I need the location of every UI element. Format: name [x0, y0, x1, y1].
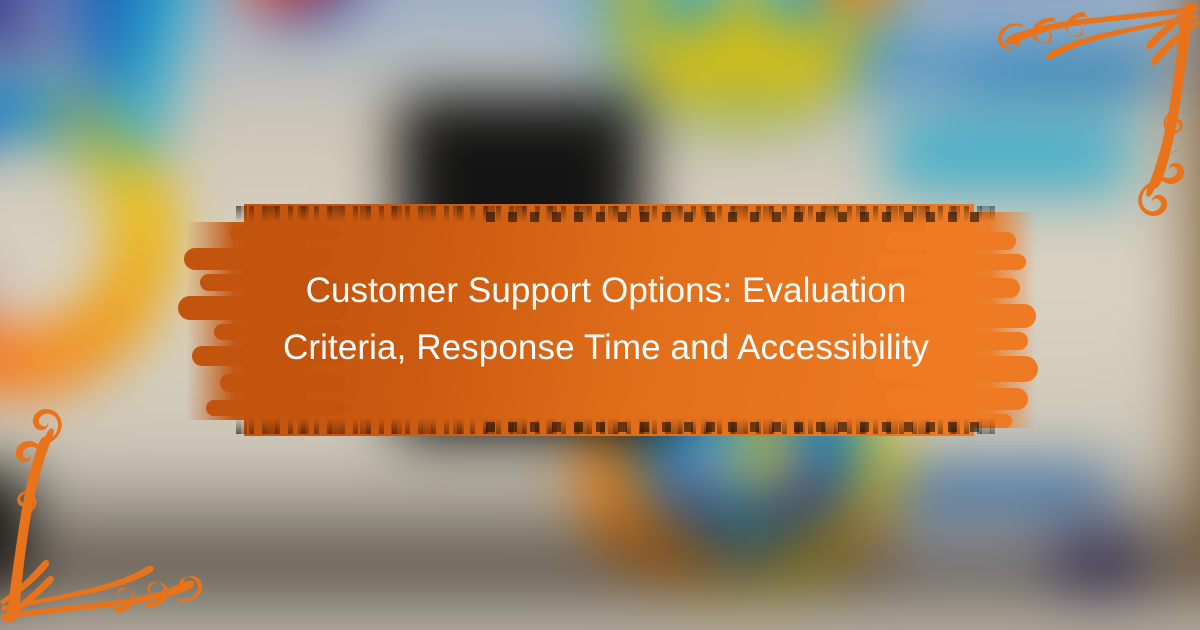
corner-flourish-top-right: [970, 0, 1200, 235]
banner-canvas: Customer Support Options: Evaluation Cri…: [0, 0, 1200, 630]
title-container: Customer Support Options: Evaluation Cri…: [186, 196, 1026, 444]
corner-flourish-icon: [0, 395, 230, 625]
corner-flourish-icon: [970, 0, 1200, 230]
page-title: Customer Support Options: Evaluation Cri…: [256, 263, 956, 376]
corner-flourish-bottom-left: [0, 395, 230, 630]
background-shape-emblem-bar: [661, 24, 831, 82]
